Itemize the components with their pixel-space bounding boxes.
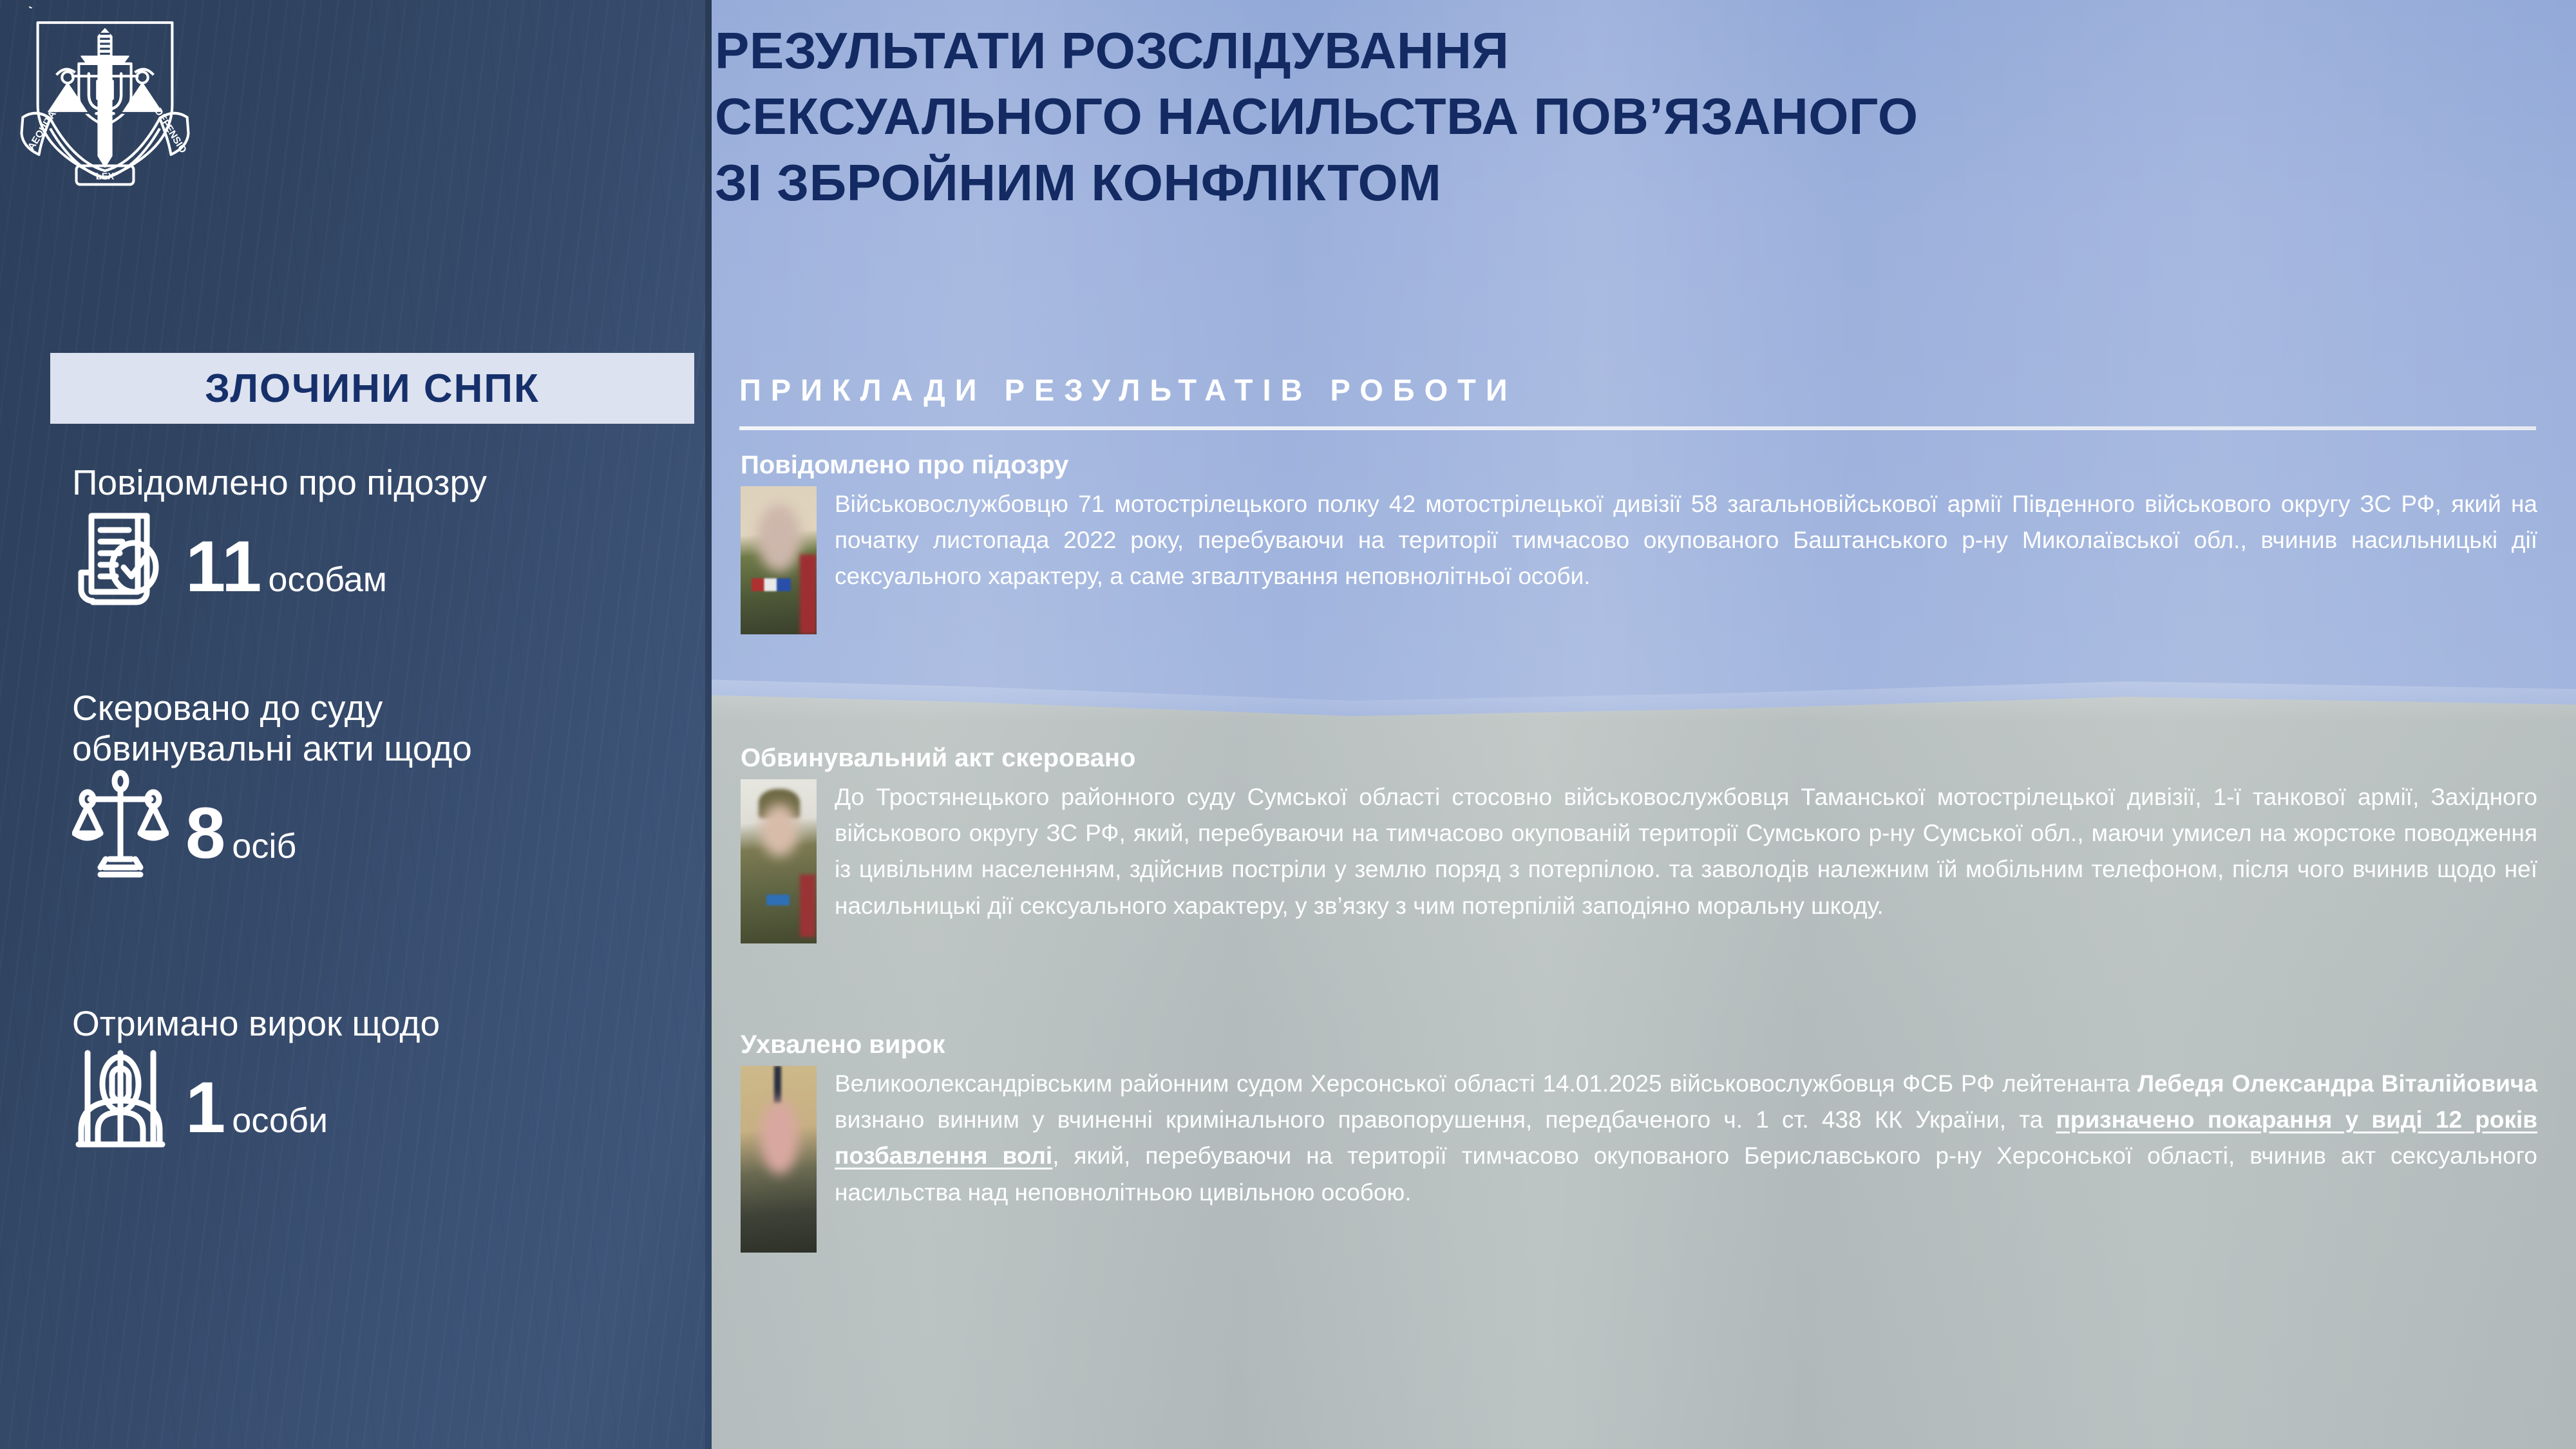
case-text-verdict-name: Лебедя Олександра Віталійовича <box>2137 1070 2537 1097</box>
sidebar-header-badge: ЗЛОЧИНИ СНПК <box>50 353 694 424</box>
case-label-indictment: Обвинувальний акт скеровано <box>741 744 2537 773</box>
stat-block-verdicts: Отримано вирок щодо 1 <box>72 1003 440 1153</box>
page-title: РЕЗУЛЬТАТИ РОЗСЛІДУВАННЯ СЕКСУАЛЬНОГО НА… <box>715 18 2544 216</box>
stat-row-indictments: 8 осіб <box>72 770 472 879</box>
stat-row-verdicts: 1 особи <box>72 1044 440 1153</box>
stat-row-suspicion: 11 особам <box>72 503 487 612</box>
page-title-line-1: РЕЗУЛЬТАТИ РОЗСЛІДУВАННЯ <box>715 18 2544 84</box>
stat-unit-suspicion: особам <box>268 554 387 606</box>
stat-block-indictments: Скеровано до суду обвинувальні акти щодо <box>72 688 472 879</box>
sidebar-right-edge <box>705 0 712 1449</box>
emblem-motto-center: LEX <box>96 172 115 182</box>
case-body-suspicion: Військовослужбовцю 71 мотострілецького п… <box>741 486 2537 634</box>
page-title-line-2: СЕКСУАЛЬНОГО НАСИЛЬСТВА ПОВ’ЯЗАНОГО <box>715 84 2544 149</box>
blurred-soldier-photo-3 <box>741 1066 817 1253</box>
stat-title-verdicts: Отримано вирок щодо <box>72 1003 440 1044</box>
blurred-soldier-photo-2 <box>741 779 817 943</box>
section-header-divider <box>739 426 2536 430</box>
stat-value-verdicts: 1 особи <box>185 1075 328 1153</box>
stat-unit-indictments: осіб <box>232 820 296 873</box>
stat-number-verdicts: 1 <box>185 1075 225 1141</box>
stat-block-suspicion: Повідомлено про підозру 11 особам <box>72 462 487 612</box>
stat-number-suspicion: 11 <box>185 535 261 600</box>
document-check-icon <box>72 503 169 612</box>
stat-value-indictments: 8 осіб <box>185 801 296 879</box>
case-block-suspicion: Повідомлено про підозру Військовослужбов… <box>741 451 2537 634</box>
stat-title-indictments: Скеровано до суду обвинувальні акти щодо <box>72 688 472 770</box>
stat-title-suspicion: Повідомлено про підозру <box>72 462 487 503</box>
case-text-suspicion: Військовослужбовцю 71 мотострілецького п… <box>835 486 2537 595</box>
case-text-verdict-part1: Великоолександрівським районним судом Хе… <box>835 1070 2137 1097</box>
blurred-soldier-photo-1 <box>741 486 817 634</box>
case-body-indictment: До Тростянецького районного суду Сумсько… <box>741 779 2537 943</box>
case-text-verdict: Великоолександрівським районним судом Хе… <box>835 1066 2537 1211</box>
case-block-indictment: Обвинувальний акт скеровано До Тростянец… <box>741 744 2537 943</box>
scales-of-justice-icon <box>72 770 169 879</box>
case-label-verdict: Ухвалено вирок <box>741 1030 2537 1059</box>
prison-bars-icon <box>72 1044 169 1153</box>
case-block-verdict: Ухвалено вирок Великоолександрівським ра… <box>741 1030 2537 1253</box>
section-header: ПРИКЛАДИ РЕЗУЛЬТАТІВ РОБОТИ <box>739 372 2543 408</box>
section-header-label: ПРИКЛАДИ РЕЗУЛЬТАТІВ РОБОТИ <box>739 373 1517 407</box>
slide-canvas: LEX AEQUITAS AEQUITAS DEFENSIO РЕЗУЛЬТАТ… <box>0 0 2576 1449</box>
page-title-line-3: ЗІ ЗБРОЙНИМ КОНФЛІКТОМ <box>715 150 2544 216</box>
stat-unit-verdicts: особи <box>232 1095 328 1147</box>
case-text-verdict-part3: , який, перебуваючи на території тимчасо… <box>835 1142 2537 1205</box>
case-text-verdict-part2: визнано винним у вчиненні кримінального … <box>835 1106 2056 1133</box>
stat-number-indictments: 8 <box>185 801 225 866</box>
emblem-motto-left: AEQUITAS <box>12 6 64 9</box>
case-label-suspicion: Повідомлено про підозру <box>741 451 2537 480</box>
stat-value-suspicion: 11 особам <box>185 535 387 612</box>
case-text-indictment: До Тростянецького районного суду Сумсько… <box>835 779 2537 924</box>
prosecutor-office-emblem: LEX AEQUITAS AEQUITAS DEFENSIO <box>12 6 198 193</box>
sidebar-header-label: ЗЛОЧИНИ СНПК <box>205 366 540 412</box>
case-body-verdict: Великоолександрівським районним судом Хе… <box>741 1066 2537 1253</box>
